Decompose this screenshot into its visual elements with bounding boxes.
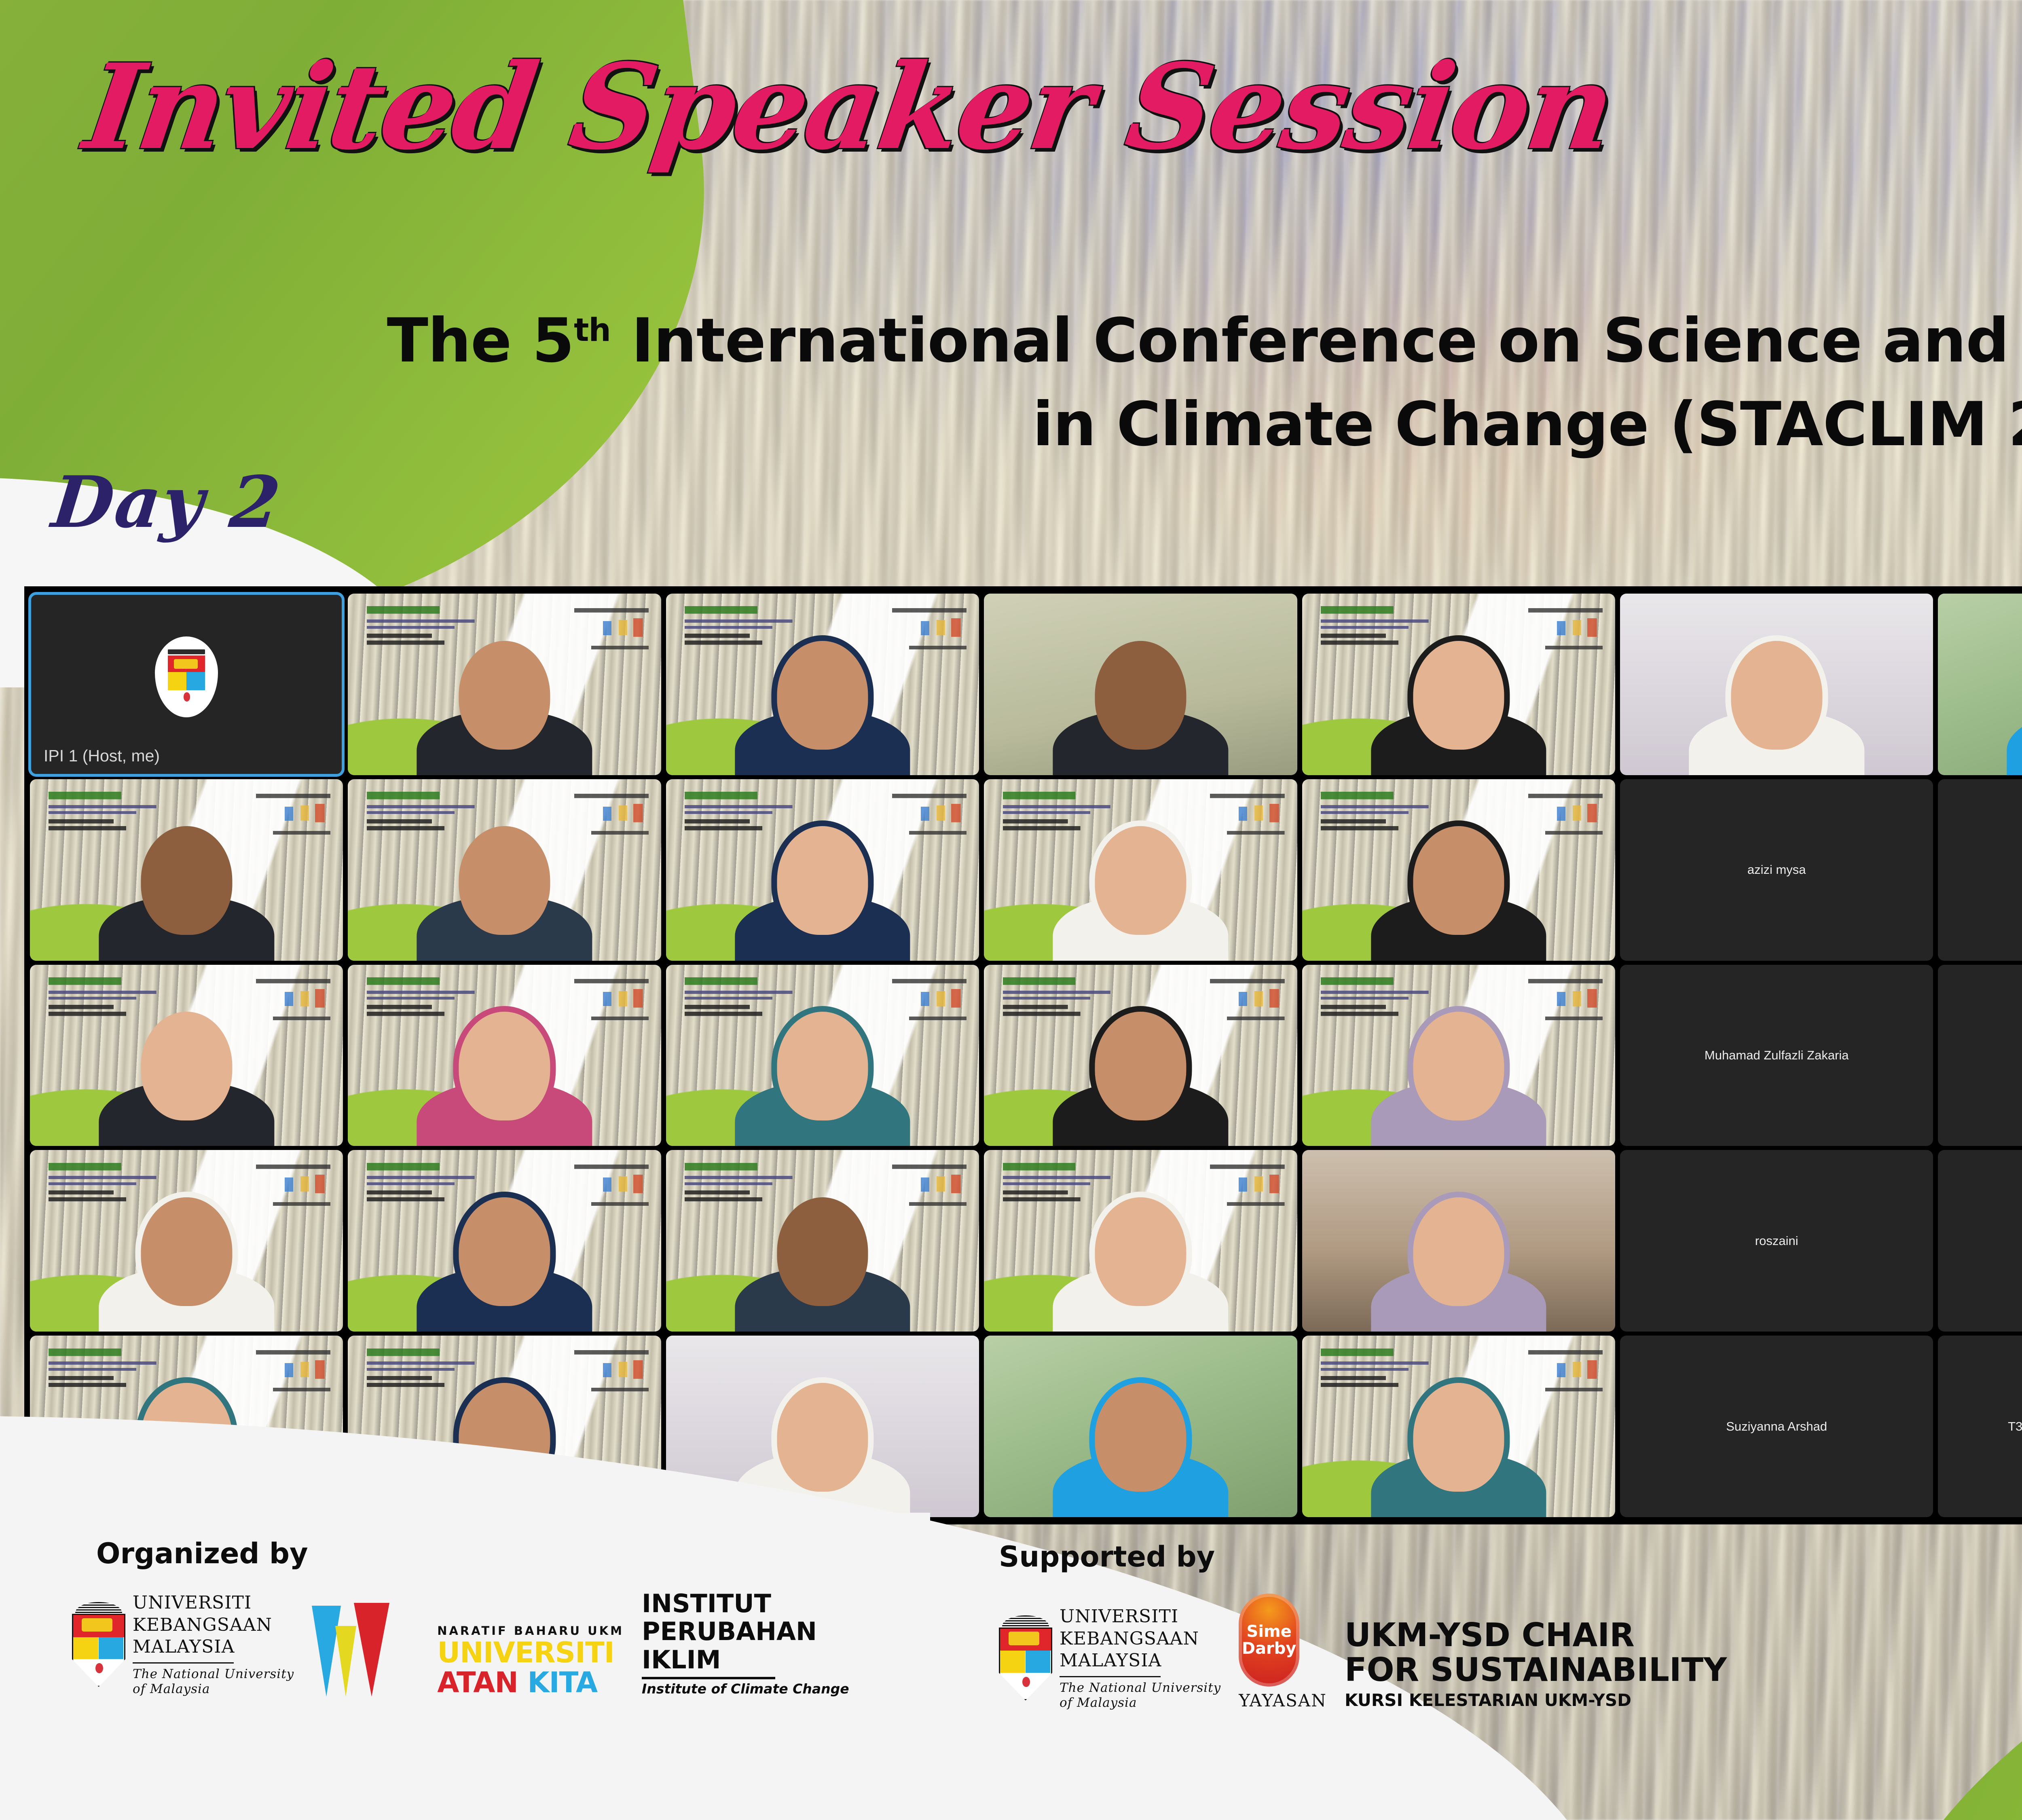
participant-silhouette	[1053, 1197, 1229, 1332]
participant-silhouette	[735, 1012, 910, 1146]
watan-v-icon	[312, 1604, 433, 1697]
participant-tile[interactable]	[348, 594, 661, 775]
sime-darby-pill-icon: SimeDarby	[1239, 1594, 1299, 1687]
ukm-s-line3: MALAYSIA	[1060, 1650, 1221, 1672]
participant-video-feed	[666, 779, 979, 961]
participant-silhouette	[1371, 1383, 1546, 1517]
ukm-crest-icon	[72, 1602, 125, 1687]
participant-video-feed	[666, 1150, 979, 1332]
participant-tile[interactable]: Muhamad Zulfazli Zakaria	[1620, 965, 1933, 1146]
ipi-line3: IKLIM	[642, 1646, 849, 1674]
institut-perubahan-iklim-logo: INSTITUT PERUBAHAN IKLIM Institute of Cl…	[642, 1590, 849, 1697]
ipi-line1: INSTITUT	[642, 1590, 849, 1617]
participant-silhouette	[417, 826, 592, 960]
participant-video-feed	[1302, 1336, 1615, 1517]
conference-title-line1: The 5th International Conference on Scie…	[243, 299, 2022, 383]
participant-silhouette	[1053, 826, 1229, 960]
zoom-participant-grid[interactable]: IPI 1 (Host, me)azizi mysaAzlina Zakaria…	[24, 586, 2022, 1524]
participant-tile[interactable]	[1302, 1336, 1615, 1517]
participant-tile[interactable]	[30, 965, 343, 1146]
ipi-line2: PERUBAHAN	[642, 1617, 849, 1645]
ukm-s-tagline1: The National University	[1060, 1680, 1221, 1695]
participant-tile[interactable]: Nadhirah	[1938, 965, 2022, 1146]
participant-name-label: IPI 1 (Host, me)	[30, 746, 343, 765]
participant-tile[interactable]	[348, 965, 661, 1146]
participant-silhouette	[417, 1012, 592, 1146]
ukm-line3: MALAYSIA	[133, 1636, 294, 1658]
participant-tile[interactable]: azizi mysa	[1620, 779, 1933, 961]
watan-top-line: NARATIF BAHARU UKM	[437, 1625, 624, 1637]
conference-title-line2: in Climate Change (STACLIM 2022)	[243, 383, 2022, 467]
participant-silhouette	[99, 1012, 274, 1146]
participant-video-feed	[30, 779, 343, 961]
participant-name-label: roszaini	[1620, 1234, 1933, 1248]
participant-video-feed	[1938, 594, 2022, 775]
ukm-logo-supporter: UNIVERSITI KEBANGSAAN MALAYSIA The Natio…	[999, 1606, 1221, 1710]
poster-canvas: Invited Speaker Session The 5th Internat…	[0, 0, 2022, 1820]
participant-name-label: Saiful Effendi Syafruddin	[1938, 1234, 2022, 1248]
participant-silhouette	[99, 826, 274, 960]
day-badge: Day 2	[49, 467, 285, 538]
participant-name-label: Azlina Zakaria	[1938, 862, 2022, 877]
title-ordinal-suffix: th	[574, 312, 611, 349]
participant-video-feed	[1302, 1150, 1615, 1332]
participant-name-label: Muhamad Zulfazli Zakaria	[1620, 1048, 1933, 1063]
supported-by-label: Supported by	[999, 1540, 1215, 1573]
participant-video-feed	[666, 965, 979, 1146]
participant-tile[interactable]: Suziyanna Arshad	[1620, 1336, 1933, 1517]
participant-tile[interactable]	[984, 965, 1297, 1146]
participant-name-label: Nadhirah	[1938, 1048, 2022, 1063]
ukm-line1: UNIVERSITI	[133, 1592, 294, 1614]
ukm-tagline2: of Malaysia	[133, 1682, 294, 1697]
participant-tile[interactable]: T337_MOHAMADEDRIAZNAN	[1938, 1336, 2022, 1517]
participant-silhouette	[735, 641, 910, 775]
participant-tile[interactable]	[1938, 594, 2022, 775]
participant-silhouette	[1371, 1197, 1546, 1332]
participant-video-feed	[984, 779, 1297, 961]
participant-silhouette	[1053, 1012, 1229, 1146]
participant-tile[interactable]	[666, 1150, 979, 1332]
ukm-s-tagline2: of Malaysia	[1060, 1695, 1221, 1710]
participant-silhouette	[1371, 641, 1546, 775]
footer: Organized by Supported by UNIVERSITI KEB…	[0, 1513, 2022, 1820]
participant-tile[interactable]	[984, 594, 1297, 775]
ipi-subtitle: Institute of Climate Change	[642, 1682, 849, 1697]
sime-darby-name-bottom: Darby	[1242, 1639, 1297, 1658]
participant-tile[interactable]	[1620, 594, 1933, 775]
ukm-wordmark: UNIVERSITI KEBANGSAAN MALAYSIA The Natio…	[133, 1592, 294, 1697]
participant-tile[interactable]	[348, 1150, 661, 1332]
participant-tile[interactable]	[348, 779, 661, 961]
ukm-crest-icon-supporter	[999, 1615, 1052, 1700]
participant-video-feed	[348, 594, 661, 775]
participant-tile[interactable]	[30, 779, 343, 961]
participant-silhouette	[417, 641, 592, 775]
watan-bottom-line: ATAN KITA	[437, 1668, 624, 1697]
participant-tile[interactable]	[1302, 594, 1615, 775]
chair-line2: FOR SUSTAINABILITY	[1345, 1653, 1727, 1687]
participant-name-label: T337_MOHAMADEDRIAZNAN	[1938, 1419, 2022, 1434]
ukm-line2: KEBANGSAAN	[133, 1614, 294, 1636]
participant-tile[interactable]: Saiful Effendi Syafruddin	[1938, 1150, 2022, 1332]
participant-video-feed	[30, 1150, 343, 1332]
participant-tile[interactable]	[984, 779, 1297, 961]
participant-silhouette	[1689, 641, 1864, 775]
supporter-logo-row: UNIVERSITI KEBANGSAAN MALAYSIA The Natio…	[999, 1594, 1727, 1710]
sime-darby-name-top: Sime	[1247, 1622, 1292, 1641]
participant-silhouette	[99, 1197, 274, 1332]
title-prefix: The 5	[387, 306, 574, 376]
participant-video-feed	[1302, 594, 1615, 775]
participant-video-feed	[348, 779, 661, 961]
title-rest: International Conference on Science and …	[611, 306, 2022, 376]
participant-tile[interactable]	[1302, 965, 1615, 1146]
participant-name-label: Suziyanna Arshad	[1620, 1419, 1933, 1434]
participant-silhouette	[417, 1197, 592, 1332]
participant-tile[interactable]	[30, 1150, 343, 1332]
participant-silhouette	[1053, 641, 1229, 775]
ukm-s-line2: KEBANGSAAN	[1060, 1628, 1221, 1650]
organized-by-label: Organized by	[96, 1537, 308, 1570]
participant-silhouette	[735, 826, 910, 960]
participant-name-label: azizi mysa	[1620, 862, 1933, 877]
participant-tile[interactable]	[666, 965, 979, 1146]
participant-video-feed	[984, 1336, 1297, 1517]
participant-tile[interactable]: roszaini	[1620, 1150, 1933, 1332]
participant-video-feed	[984, 1150, 1297, 1332]
participant-video-feed	[984, 594, 1297, 775]
participant-video-feed	[348, 965, 661, 1146]
ukm-logo-organizer: UNIVERSITI KEBANGSAAN MALAYSIA The Natio…	[72, 1592, 294, 1697]
participant-video-feed	[666, 594, 979, 775]
participant-tile[interactable]	[984, 1336, 1297, 1517]
participant-video-feed	[1302, 965, 1615, 1146]
organizer-logo-row: UNIVERSITI KEBANGSAAN MALAYSIA The Natio…	[72, 1590, 849, 1697]
watan-wordmark: NARATIF BAHARU UKM UNIVERSITI ATAN KITA	[437, 1625, 624, 1697]
participant-tile[interactable]	[666, 779, 979, 961]
participant-tile[interactable]	[1302, 1150, 1615, 1332]
watan-mid-line: UNIVERSITI	[437, 1638, 624, 1667]
chair-line3: KURSI KELESTARIAN UKM-YSD	[1345, 1690, 1727, 1710]
participant-silhouette	[1053, 1383, 1229, 1517]
page-title: Invited Speaker Session	[79, 49, 1619, 166]
ukm-wordmark-supporter: UNIVERSITI KEBANGSAAN MALAYSIA The Natio…	[1060, 1606, 1221, 1710]
participant-video-feed	[348, 1150, 661, 1332]
participant-tile[interactable]	[666, 594, 979, 775]
conference-title: The 5th International Conference on Scie…	[0, 299, 2022, 467]
ukm-crest-avatar-icon	[161, 642, 212, 712]
participant-video-feed	[1302, 779, 1615, 961]
participant-video-feed	[30, 965, 343, 1146]
participant-video-feed	[984, 965, 1297, 1146]
participant-silhouette	[735, 1197, 910, 1332]
ukm-tagline1: The National University	[133, 1667, 294, 1682]
participant-tile[interactable]	[1302, 779, 1615, 961]
chair-line1: UKM-YSD CHAIR	[1345, 1618, 1727, 1653]
participant-silhouette	[1371, 826, 1546, 960]
participant-video-feed	[1620, 594, 1933, 775]
watan-kita-logo: NARATIF BAHARU UKM UNIVERSITI ATAN KITA	[312, 1604, 624, 1697]
sime-darby-logo: SimeDarby YAYASAN	[1239, 1594, 1327, 1710]
participant-tile[interactable]: Azlina Zakaria	[1938, 779, 2022, 961]
yayasan-caption: YAYASAN	[1239, 1691, 1327, 1710]
participant-tile-host[interactable]: IPI 1 (Host, me)	[30, 594, 343, 775]
ukm-ysd-chair-logo: UKM-YSD CHAIR FOR SUSTAINABILITY KURSI K…	[1345, 1618, 1727, 1710]
participant-silhouette	[1371, 1012, 1546, 1146]
participant-tile[interactable]	[984, 1150, 1297, 1332]
participant-silhouette	[2007, 641, 2022, 775]
ukm-s-line1: UNIVERSITI	[1060, 1606, 1221, 1628]
